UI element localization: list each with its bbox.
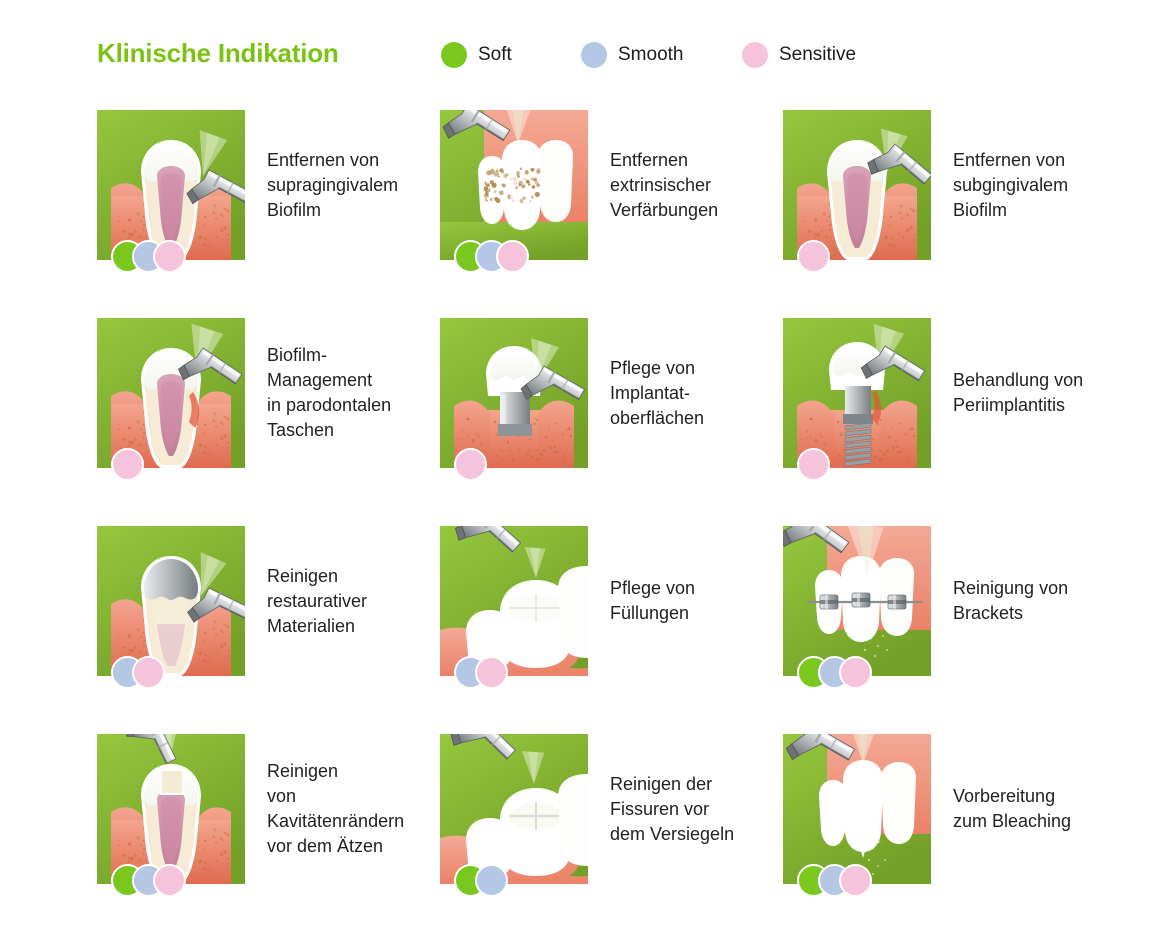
caption-line: Füllungen [610,601,785,626]
indication-tile [440,110,588,260]
indication-badges [797,863,872,897]
caption-line: Brackets [953,601,1128,626]
indication-tile [440,526,588,676]
sensitive-badge-icon [153,240,186,273]
caption-line: Entfernen von [267,148,442,173]
caption-line: supragingivalem [267,173,442,198]
indication-caption: ReinigenrestaurativerMaterialien [267,564,442,639]
indication-tile [783,526,931,676]
smooth-badge-icon [475,864,508,897]
caption-line: in parodontalen [267,393,442,418]
indication-tile [440,318,588,468]
indication-grid: Entfernen vonsupragingivalemBiofilmEntfe… [0,0,1157,946]
indication-caption: Entfernen vonsupragingivalemBiofilm [267,148,442,223]
indication-tile [97,110,245,260]
caption-line: Biofilm [953,198,1128,223]
caption-line: extrinsischer [610,173,785,198]
caption-line: Reinigen der [610,772,785,797]
indication-badges [454,863,508,897]
tooth-cavity-margin-illustration [97,734,245,884]
indication-badges [111,655,165,689]
indication-cell: Pflege vonFüllungen [440,526,785,676]
caption-line: dem Versiegeln [610,822,785,847]
indication-caption: Entfernen vonsubgingivalemBiofilm [953,148,1128,223]
caption-line: Taschen [267,418,442,443]
indication-caption: Vorbereitungzum Bleaching [953,784,1128,834]
indication-cell: ReinigenvonKavitätenrändernvor dem Ätzen [97,734,442,884]
caption-line: zum Bleaching [953,809,1128,834]
indication-cell: Entfernen vonsupragingivalemBiofilm [97,110,442,260]
indication-tile [97,318,245,468]
sensitive-badge-icon [797,448,830,481]
indication-tile [783,318,931,468]
caption-line: Pflege von [610,356,785,381]
molar-filling-illustration [440,526,588,676]
tooth-crown-restoration-illustration [97,526,245,676]
indication-tile [783,734,931,884]
indication-cell: Biofilm-Managementin parodontalenTaschen [97,318,442,468]
caption-line: Verfärbungen [610,198,785,223]
sensitive-badge-icon [132,656,165,689]
orthodontic-brackets-illustration [783,526,931,676]
caption-line: Biofilm- [267,343,442,368]
indication-caption: Reinigen derFissuren vordem Versiegeln [610,772,785,847]
indication-caption: Reinigung vonBrackets [953,576,1128,626]
indication-caption: Pflege vonFüllungen [610,576,785,626]
caption-line: Reinigen [267,759,442,784]
stained-front-teeth-illustration [440,110,588,260]
caption-line: Fissuren vor [610,797,785,822]
caption-line: Vorbereitung [953,784,1128,809]
sensitive-badge-icon [111,448,144,481]
indication-caption: Biofilm-Managementin parodontalenTaschen [267,343,442,443]
caption-line: Materialien [267,614,442,639]
caption-line: Implantat- [610,381,785,406]
sensitive-badge-icon [797,240,830,273]
indication-cell: Reinigen derFissuren vordem Versiegeln [440,734,785,884]
caption-line: Behandlung von [953,368,1128,393]
tooth-cross-section-subgingival-illustration [783,110,931,260]
indication-cell: Behandlung vonPeriimplantitis [783,318,1128,468]
sensitive-badge-icon [475,656,508,689]
caption-line: von [267,784,442,809]
indication-tile [440,734,588,884]
indication-cell: ReinigenrestaurativerMaterialien [97,526,442,676]
caption-line: Kavitätenrändern [267,809,442,834]
indication-caption: Behandlung vonPeriimplantitis [953,368,1128,418]
caption-line: Periimplantitis [953,393,1128,418]
indication-badges [797,239,830,273]
sensitive-badge-icon [839,864,872,897]
caption-line: Management [267,368,442,393]
indication-cell: EntfernenextrinsischerVerfärbungen [440,110,785,260]
caption-line: restaurativer [267,589,442,614]
indication-caption: ReinigenvonKavitätenrändernvor dem Ätzen [267,759,442,859]
indication-caption: EntfernenextrinsischerVerfärbungen [610,148,785,223]
indication-badges [797,655,872,689]
implant-surface-illustration [440,318,588,468]
caption-line: subgingivalem [953,173,1128,198]
indication-badges [111,863,186,897]
indication-cell: Vorbereitungzum Bleaching [783,734,1128,884]
sensitive-badge-icon [153,864,186,897]
caption-line: Biofilm [267,198,442,223]
caption-line: vor dem Ätzen [267,834,442,859]
indication-badges [454,447,487,481]
implant-periimplantitis-illustration [783,318,931,468]
caption-line: Pflege von [610,576,785,601]
caption-line: Reinigung von [953,576,1128,601]
indication-badges [111,447,144,481]
caption-line: Entfernen [610,148,785,173]
caption-line: Entfernen von [953,148,1128,173]
front-teeth-bleaching-illustration [783,734,931,884]
caption-line: oberflächen [610,406,785,431]
indication-caption: Pflege vonImplantat-oberflächen [610,356,785,431]
tooth-cross-section-supragingival-illustration [97,110,245,260]
caption-line: Reinigen [267,564,442,589]
indication-tile [97,734,245,884]
indication-cell: Pflege vonImplantat-oberflächen [440,318,785,468]
sensitive-badge-icon [496,240,529,273]
indication-cell: Reinigung vonBrackets [783,526,1128,676]
molar-fissure-illustration [440,734,588,884]
indication-badges [454,655,508,689]
indication-tile [97,526,245,676]
sensitive-badge-icon [454,448,487,481]
indication-badges [797,447,830,481]
indication-cell: Entfernen vonsubgingivalemBiofilm [783,110,1128,260]
tooth-periodontal-pocket-illustration [97,318,245,468]
indication-badges [454,239,529,273]
sensitive-badge-icon [839,656,872,689]
indication-tile [783,110,931,260]
indication-badges [111,239,186,273]
